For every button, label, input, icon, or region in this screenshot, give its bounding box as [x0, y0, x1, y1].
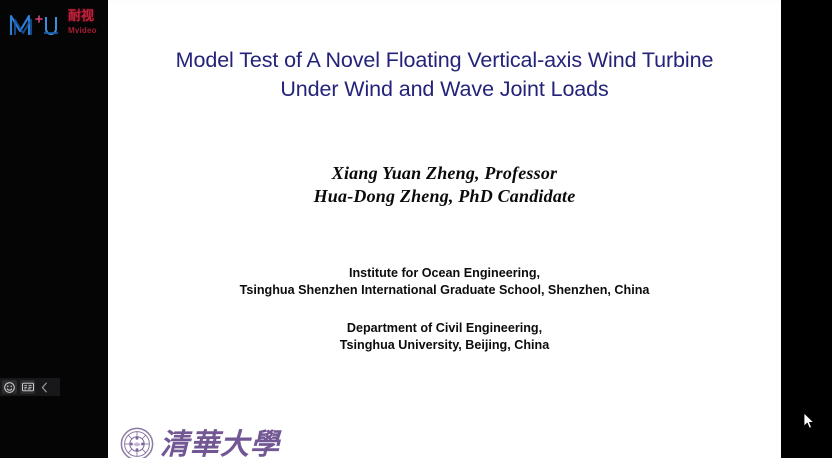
author-line-2: Hua-Dong Zheng, PhD Candidate — [108, 185, 781, 208]
slide-top-edge — [108, 0, 781, 4]
affiliation-secondary-line-1: Department of Civil Engineering, — [108, 320, 781, 337]
slide-authors: Xiang Yuan Zheng, Professor Hua-Dong Zhe… — [108, 162, 781, 208]
mvideo-logo-icon — [8, 9, 64, 39]
tsinghua-university-logo: 清華大學 — [120, 424, 290, 458]
subtitles-button[interactable] — [20, 380, 35, 394]
subtitles-icon — [22, 382, 34, 392]
mvideo-watermark: 耐视 Mvideo — [6, 6, 104, 42]
chevron-left-icon — [41, 382, 48, 393]
presentation-slide: Model Test of A Novel Floating Vertical-… — [108, 0, 781, 458]
slide-title-line-1: Model Test of A Novel Floating Vertical-… — [108, 46, 781, 75]
video-player-left-panel: 耐视 Mvideo — [0, 0, 108, 458]
affiliation-secondary: Department of Civil Engineering, Tsinghu… — [108, 320, 781, 354]
slide-title: Model Test of A Novel Floating Vertical-… — [108, 46, 781, 104]
smiley-face-icon — [4, 382, 15, 393]
affiliation-secondary-line-2: Tsinghua University, Beijing, China — [108, 337, 781, 354]
screen-root: 耐视 Mvideo — [0, 0, 832, 458]
right-letterbox-bar — [781, 0, 832, 458]
affiliation-primary-line-2: Tsinghua Shenzhen International Graduate… — [108, 282, 781, 299]
watermark-brand-cn: 耐视 — [68, 10, 94, 24]
watermark-brand-latin: Mvideo — [68, 26, 97, 35]
tsinghua-seal-icon — [120, 427, 154, 458]
tsinghua-wordmark: 清華大學 — [160, 429, 280, 458]
collapse-controls-button[interactable] — [38, 380, 50, 394]
player-control-strip — [0, 378, 60, 396]
slide-title-line-2: Under Wind and Wave Joint Loads — [108, 75, 781, 104]
author-line-1: Xiang Yuan Zheng, Professor — [108, 162, 781, 185]
emoji-reaction-button[interactable] — [2, 380, 17, 394]
affiliation-primary-line-1: Institute for Ocean Engineering, — [108, 265, 781, 282]
affiliation-primary: Institute for Ocean Engineering, Tsinghu… — [108, 265, 781, 299]
